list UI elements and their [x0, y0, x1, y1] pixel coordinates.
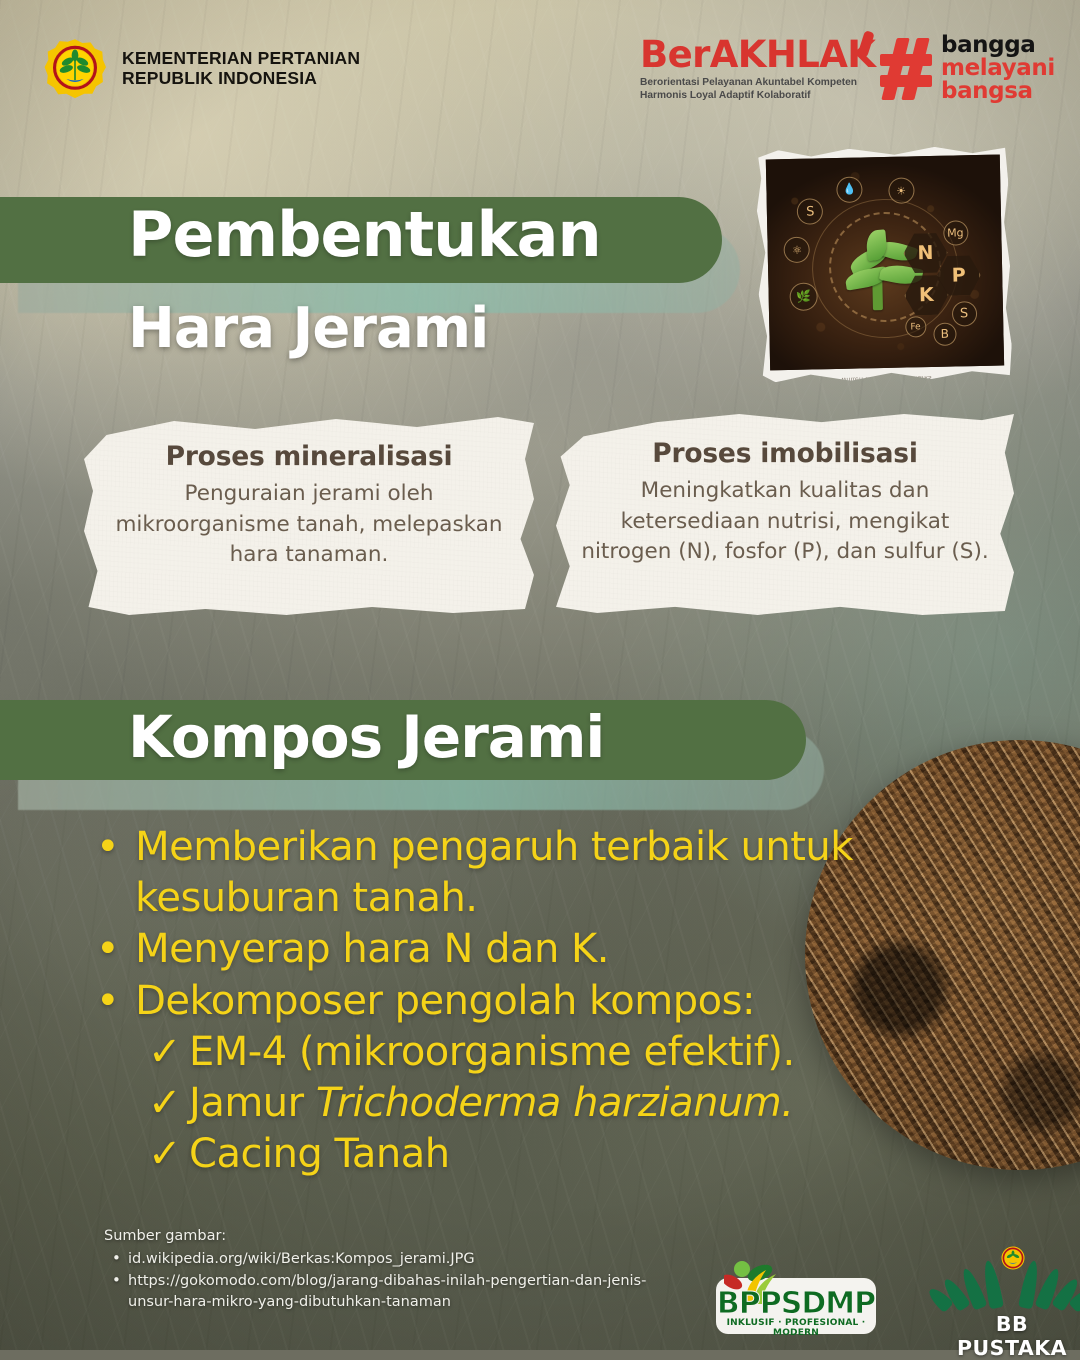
- list-item-label: Memberikan pengaruh terbaik untuk kesubu…: [135, 822, 856, 924]
- bullet-marker: •: [96, 924, 119, 975]
- berakhlak-wordmark: BerAKHLAK: [640, 33, 875, 76]
- kementan-seal-icon: [44, 38, 106, 100]
- check-marker: ✓: [148, 1131, 181, 1177]
- bangga-line-2: melayani: [941, 57, 1055, 80]
- image-sources-block: Sumber gambar: id.wikipedia.org/wiki/Ber…: [104, 1226, 684, 1313]
- circle-label-b: B: [933, 322, 956, 345]
- page-title-line-1: Pembentukan: [128, 198, 601, 271]
- npk-nutrient-photo: N P K S Mg S Fe B 💧 ☀ ⚛ 🌿 written and jo…: [756, 145, 1013, 382]
- list-item-label: Dekomposer pengolah kompos:: [135, 976, 755, 1027]
- sun-icon: ☀: [888, 177, 915, 204]
- bangga-wordmark: bangga melayani bangsa: [941, 34, 1055, 103]
- berakhlak-logo: BerAKHLAK Berorientasi Pelayanan Akuntab…: [640, 36, 870, 102]
- source-item[interactable]: https://gokomodo.com/blog/jarang-dibahas…: [104, 1271, 684, 1313]
- berakhlak-values-line-2: Harmonis Loyal Adaptif Kolaboratif: [640, 89, 870, 102]
- circle-label-s-bottom: S: [951, 301, 977, 327]
- note-body: Penguraian jerami oleh mikroorganisme ta…: [106, 479, 512, 571]
- section-heading-kompos: Kompos Jerami: [128, 703, 604, 771]
- sub-list-item-label: EM-4 (mikroorganisme efektif).: [189, 1029, 795, 1075]
- bb-pustaka-wordmark: BB PUSTAKA: [938, 1312, 1080, 1360]
- sub-list-item-italic: Trichoderma harzianum.: [316, 1080, 794, 1126]
- bb-pustaka-seal-icon: [1001, 1246, 1025, 1270]
- sub-list-item: ✓Jamur Trichoderma harzianum.: [96, 1078, 856, 1129]
- bangga-line-3: bangsa: [941, 80, 1055, 103]
- sub-list-item: ✓Cacing Tanah: [96, 1129, 856, 1180]
- page-title-line-2: Hara Jerami: [128, 296, 488, 361]
- note-card-imobilisasi: Proses imobilisasi Meningkatkan kualitas…: [556, 412, 1014, 615]
- note-body: Meningkatkan kualitas dan ketersediaan n…: [578, 476, 992, 568]
- sources-label: Sumber gambar:: [104, 1226, 684, 1247]
- list-item: • Menyerap hara N dan K.: [96, 924, 856, 975]
- bppsdmp-tagline: INKLUSIF · PROFESIONAL · MODERN: [712, 1318, 880, 1338]
- kompos-benefit-list: • Memberikan pengaruh terbaik untuk kesu…: [96, 822, 856, 1180]
- bppsdmp-logo: BPPSDMP INKLUSIF · PROFESIONAL · MODERN: [712, 1256, 880, 1342]
- note-heading: Proses mineralisasi: [106, 441, 512, 472]
- ministry-line-2: REPUBLIK INDONESIA: [122, 69, 360, 89]
- bullet-marker: •: [96, 976, 119, 1027]
- ministry-logo-block: KEMENTERIAN PERTANIAN REPUBLIK INDONESIA: [44, 38, 360, 100]
- bb-pustaka-logo: BB PUSTAKA: [938, 1250, 1080, 1342]
- open-book-icon: [938, 1250, 1080, 1308]
- bangga-melayani-bangsa-logo: bangga melayani bangsa: [880, 34, 1055, 103]
- bangga-line-1: bangga: [941, 34, 1055, 57]
- ministry-line-1: KEMENTERIAN PERTANIAN: [122, 49, 360, 69]
- ministry-name: KEMENTERIAN PERTANIAN REPUBLIK INDONESIA: [122, 49, 360, 88]
- footer-logo-block: BPPSDMP INKLUSIF · PROFESIONAL · MODERN: [712, 1250, 1080, 1342]
- note-heading: Proses imobilisasi: [578, 438, 992, 469]
- sub-list-item-label: Jamur: [189, 1080, 316, 1126]
- list-item: • Dekomposer pengolah kompos:: [96, 976, 856, 1027]
- note-card-mineralisasi: Proses mineralisasi Penguraian jerami ol…: [84, 415, 534, 615]
- list-item: • Memberikan pengaruh terbaik untuk kesu…: [96, 822, 856, 924]
- hashtag-icon: [880, 38, 932, 100]
- sub-list-item-label: Cacing Tanah: [189, 1131, 450, 1177]
- berakhlak-values-line-1: Berorientasi Pelayanan Akuntabel Kompete…: [640, 76, 870, 89]
- bppsdmp-wordmark: BPPSDMP: [712, 1286, 880, 1321]
- check-marker: ✓: [148, 1029, 181, 1075]
- list-item-label: Menyerap hara N dan K.: [135, 924, 609, 975]
- sub-list-item: ✓EM-4 (mikroorganisme efektif).: [96, 1027, 856, 1078]
- berakhlak-values: Berorientasi Pelayanan Akuntabel Kompete…: [640, 76, 870, 102]
- source-item[interactable]: id.wikipedia.org/wiki/Berkas:Kompos_jera…: [104, 1249, 684, 1270]
- bullet-marker: •: [96, 822, 119, 873]
- check-marker: ✓: [148, 1080, 181, 1126]
